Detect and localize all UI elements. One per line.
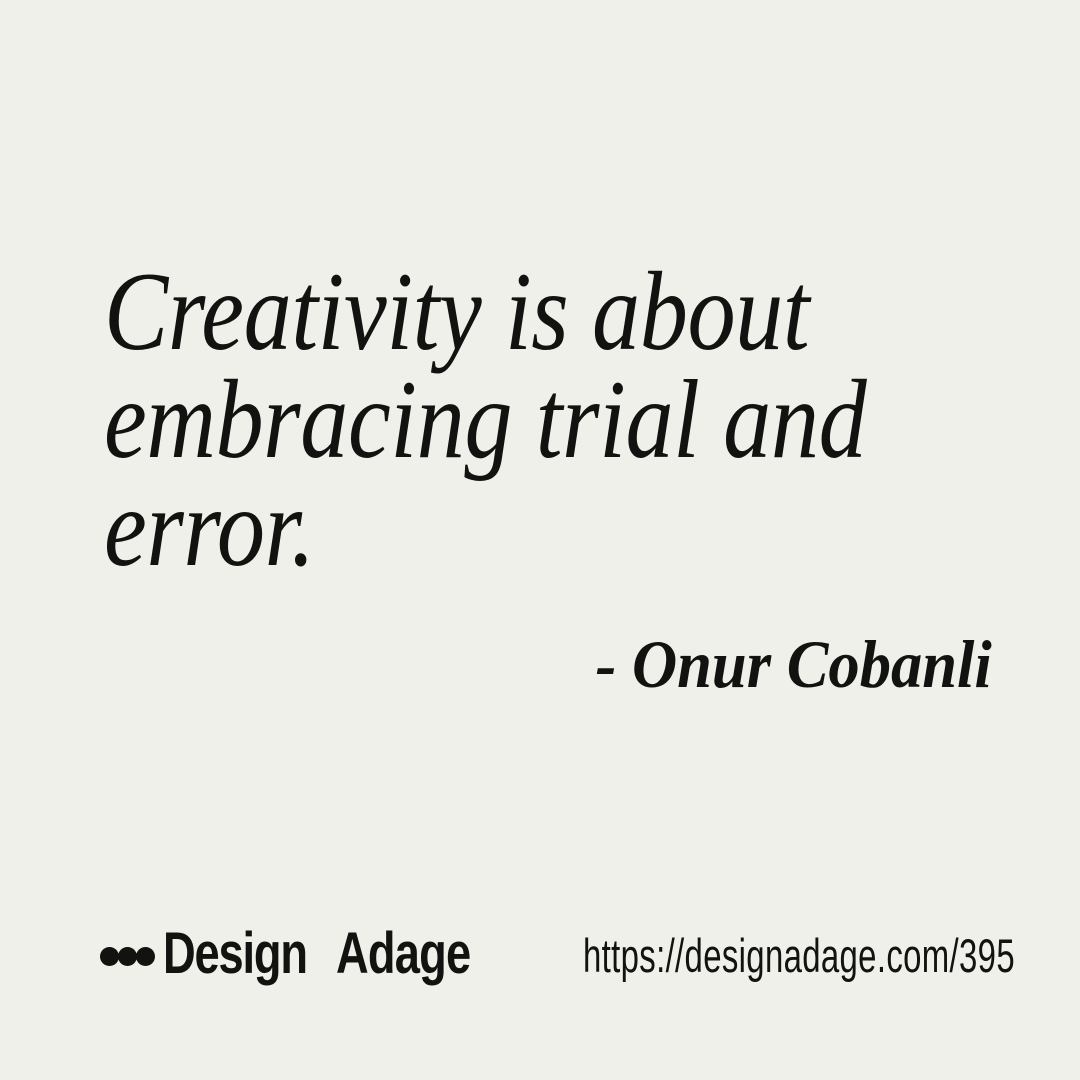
designadage-logo[interactable]: Design Adage — [100, 918, 509, 990]
footer: Design Adage https://designadage.com/395 — [0, 918, 1080, 998]
logo-word-design: Design — [163, 925, 307, 983]
attribution: - Onur Cobanli — [561, 624, 992, 704]
quote-line-3: error. — [104, 474, 861, 582]
quote-line-2: embracing trial and — [104, 366, 861, 474]
three-dots-icon — [100, 947, 154, 966]
attribution-author: - Onur Cobanli — [596, 624, 992, 704]
quote-card: Creativity is about embracing trial and … — [0, 0, 1080, 1080]
quote-block: Creativity is about embracing trial and … — [104, 258, 984, 582]
logo-word-adage: Adage — [336, 925, 470, 983]
quote-line-1: Creativity is about — [104, 258, 861, 366]
dot-3 — [136, 947, 155, 966]
dot-1 — [100, 947, 119, 966]
site-url-link[interactable]: https://designadage.com/395 — [583, 932, 1015, 979]
dot-2 — [118, 947, 137, 966]
